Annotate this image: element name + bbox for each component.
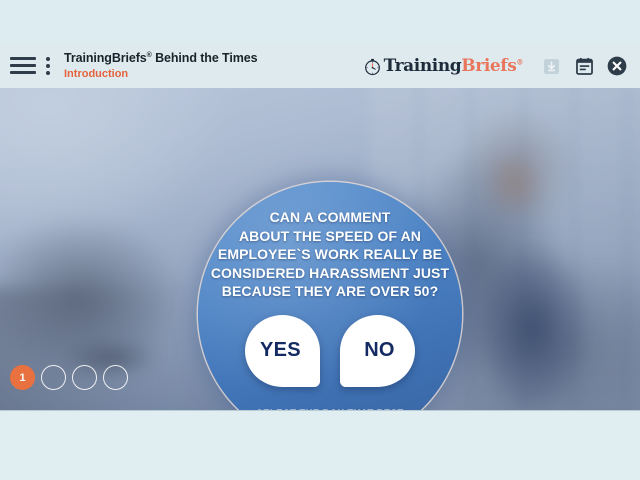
pagination-dot-2[interactable]: 2	[41, 365, 66, 390]
dot	[46, 64, 50, 68]
course-title-rest: Behind the Times	[152, 51, 258, 65]
section-title: Introduction	[64, 68, 257, 81]
pagination-dot-label: 3	[81, 372, 87, 384]
header-left-group: TrainingBriefs® Behind the Times Introdu…	[0, 51, 257, 80]
question-line: CONSIDERED HARASSMENT JUST	[209, 264, 451, 283]
trainingbriefs-logo: TrainingBriefs®	[363, 56, 523, 76]
player-header: TrainingBriefs® Behind the Times Introdu…	[0, 44, 640, 88]
question-line: EMPLOYEE`S WORK REALLY BE	[209, 245, 451, 264]
course-player: TrainingBriefs® Behind the Times Introdu…	[0, 0, 640, 480]
question-text: CAN A COMMENT ABOUT THE SPEED OF AN EMPL…	[209, 208, 451, 301]
notes-icon[interactable]	[573, 55, 595, 77]
pagination-dot-label: 4	[112, 372, 118, 384]
close-glyph	[606, 55, 628, 77]
brand-part-training: Training	[384, 56, 462, 76]
pagination-dot-3[interactable]: 3	[72, 365, 97, 390]
pagination-dot-label: 1	[19, 372, 25, 384]
question-line: BECAUSE THEY ARE OVER 50?	[209, 282, 451, 301]
hamburger-line	[10, 64, 36, 67]
answer-label-no: NO	[364, 339, 395, 362]
question-line: ABOUT THE SPEED OF AN	[209, 227, 451, 246]
question-line: CAN A COMMENT	[209, 208, 451, 227]
pagination-dot-4[interactable]: 4	[103, 365, 128, 390]
answer-label-yes: YES	[260, 339, 301, 362]
header-right-group: TrainingBriefs®	[363, 55, 640, 77]
question-panel: CAN A COMMENT ABOUT THE SPEED OF AN EMPL…	[198, 182, 462, 410]
brand-registered-mark: ®	[516, 57, 523, 66]
course-title-main: TrainingBriefs	[64, 51, 147, 65]
slide-stage: CAN A COMMENT ABOUT THE SPEED OF AN EMPL…	[0, 88, 640, 410]
brand-part-briefs: Briefs	[461, 56, 516, 76]
brand-wordmark: TrainingBriefs®	[384, 56, 523, 76]
dot	[46, 71, 50, 75]
notes-glyph	[574, 56, 595, 77]
close-icon[interactable]	[606, 55, 628, 77]
course-title: TrainingBriefs® Behind the Times	[64, 51, 257, 65]
pagination-dot-1[interactable]: 1	[10, 365, 35, 390]
hamburger-line	[10, 57, 36, 60]
pagination: 1 2 3 4	[10, 365, 128, 390]
answer-button-yes[interactable]: YES	[245, 315, 320, 387]
answer-button-no[interactable]: NO	[340, 315, 415, 387]
download-glyph	[541, 56, 562, 77]
hamburger-line	[10, 71, 36, 74]
dot	[46, 57, 50, 61]
title-block: TrainingBriefs® Behind the Times Introdu…	[64, 51, 257, 80]
download-icon	[540, 55, 562, 77]
vertical-dots-icon[interactable]	[43, 57, 53, 75]
hamburger-menu-icon[interactable]	[10, 57, 36, 74]
stopwatch-icon	[363, 57, 382, 76]
answer-options: YES NO	[245, 315, 415, 387]
pagination-dot-label: 2	[50, 372, 56, 384]
player-footer	[0, 410, 640, 480]
